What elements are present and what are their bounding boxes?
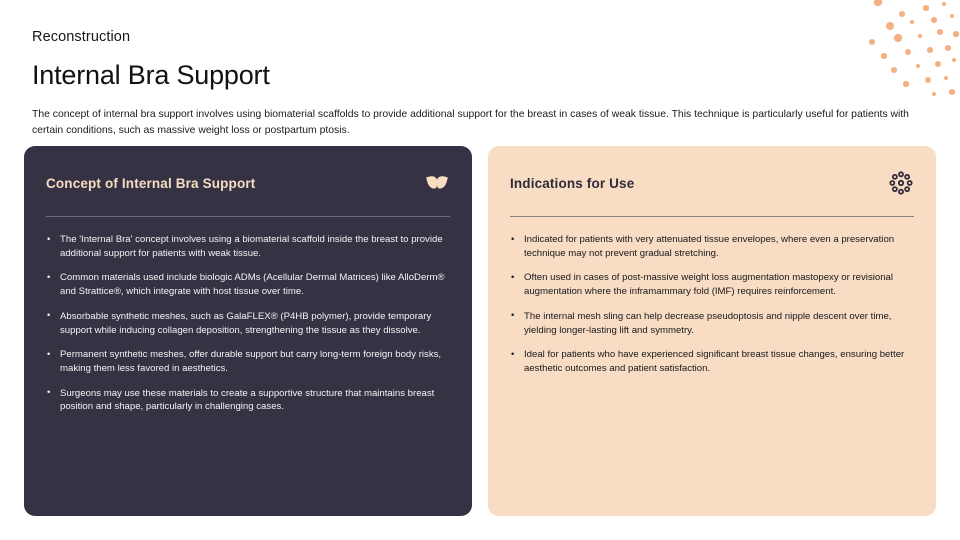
list-item: The 'Internal Bra' concept involves usin…	[46, 233, 450, 260]
list-item: Indicated for patients with very attenua…	[510, 233, 914, 260]
breadcrumb-eyebrow: Reconstruction	[32, 28, 932, 47]
card-concept-header: Concept of Internal Bra Support	[46, 168, 450, 198]
decor-dot	[923, 5, 928, 10]
card-indications-header: Indications for Use	[510, 168, 914, 198]
card-concept-divider	[46, 216, 450, 217]
card-concept-bullet-list: The 'Internal Bra' concept involves usin…	[46, 233, 450, 414]
decor-dot	[931, 17, 938, 24]
card-container: Concept of Internal Bra Support The 'Int…	[24, 146, 936, 516]
card-indications-divider	[510, 216, 914, 217]
decor-dot	[935, 61, 942, 68]
decor-dot	[944, 76, 949, 81]
decor-dot	[910, 20, 915, 25]
decor-dot	[952, 58, 957, 63]
decor-dot	[953, 31, 958, 36]
page-header: Reconstruction Internal Bra Support The …	[32, 28, 932, 139]
list-item: Often used in cases of post-massive weig…	[510, 271, 914, 298]
decor-dot	[874, 0, 881, 6]
card-indications: Indications for Use	[488, 146, 936, 516]
decor-dot	[932, 92, 937, 97]
decor-dot	[949, 89, 955, 95]
list-item: Ideal for patients who have experienced …	[510, 348, 914, 375]
bra-icon	[424, 170, 450, 196]
list-item: Absorbable synthetic meshes, such as Gal…	[46, 310, 450, 337]
list-item: The internal mesh sling can help decreas…	[510, 310, 914, 337]
decor-dot	[945, 45, 951, 51]
card-indications-title: Indications for Use	[510, 176, 634, 191]
page-description: The concept of internal bra support invo…	[32, 107, 925, 139]
decor-dot	[937, 29, 943, 35]
card-indications-bullet-list: Indicated for patients with very attenua…	[510, 233, 914, 376]
decor-dot	[899, 11, 905, 17]
card-concept-title: Concept of Internal Bra Support	[46, 176, 255, 191]
page-title: Internal Bra Support	[32, 59, 932, 93]
list-item: Permanent synthetic meshes, offer durabl…	[46, 348, 450, 375]
card-concept: Concept of Internal Bra Support The 'Int…	[24, 146, 472, 516]
decor-dot	[942, 2, 947, 7]
cell-cluster-icon	[888, 170, 914, 196]
list-item: Surgeons may use these materials to crea…	[46, 387, 450, 414]
list-item: Common materials used include biologic A…	[46, 271, 450, 298]
decor-dot	[950, 14, 954, 18]
